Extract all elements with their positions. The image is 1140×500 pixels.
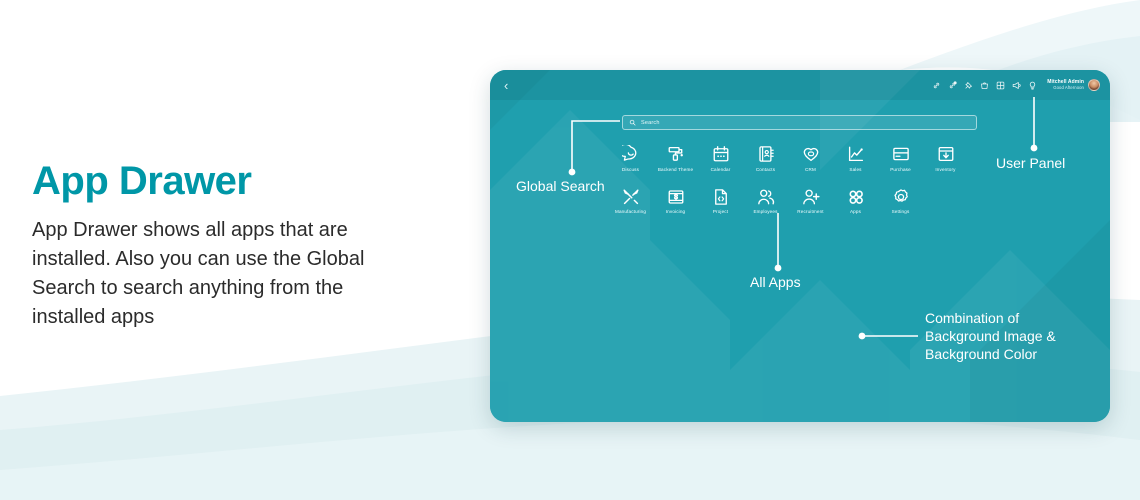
annotation-label: User Panel <box>996 155 1065 171</box>
annotation-all-apps: All Apps <box>750 274 801 292</box>
annotation-background: Combination of Background Image & Backgr… <box>925 310 1056 364</box>
annotation-label: Global Search <box>516 178 605 194</box>
annotation-label: Combination of Background Image & Backgr… <box>925 310 1056 362</box>
annotation-global-search: Global Search <box>516 178 605 196</box>
annotation-label: All Apps <box>750 274 801 290</box>
annotation-user-panel: User Panel <box>996 155 1065 173</box>
annotation-connectors <box>0 0 1140 500</box>
slide-canvas: App Drawer App Drawer shows all apps tha… <box>0 0 1140 500</box>
